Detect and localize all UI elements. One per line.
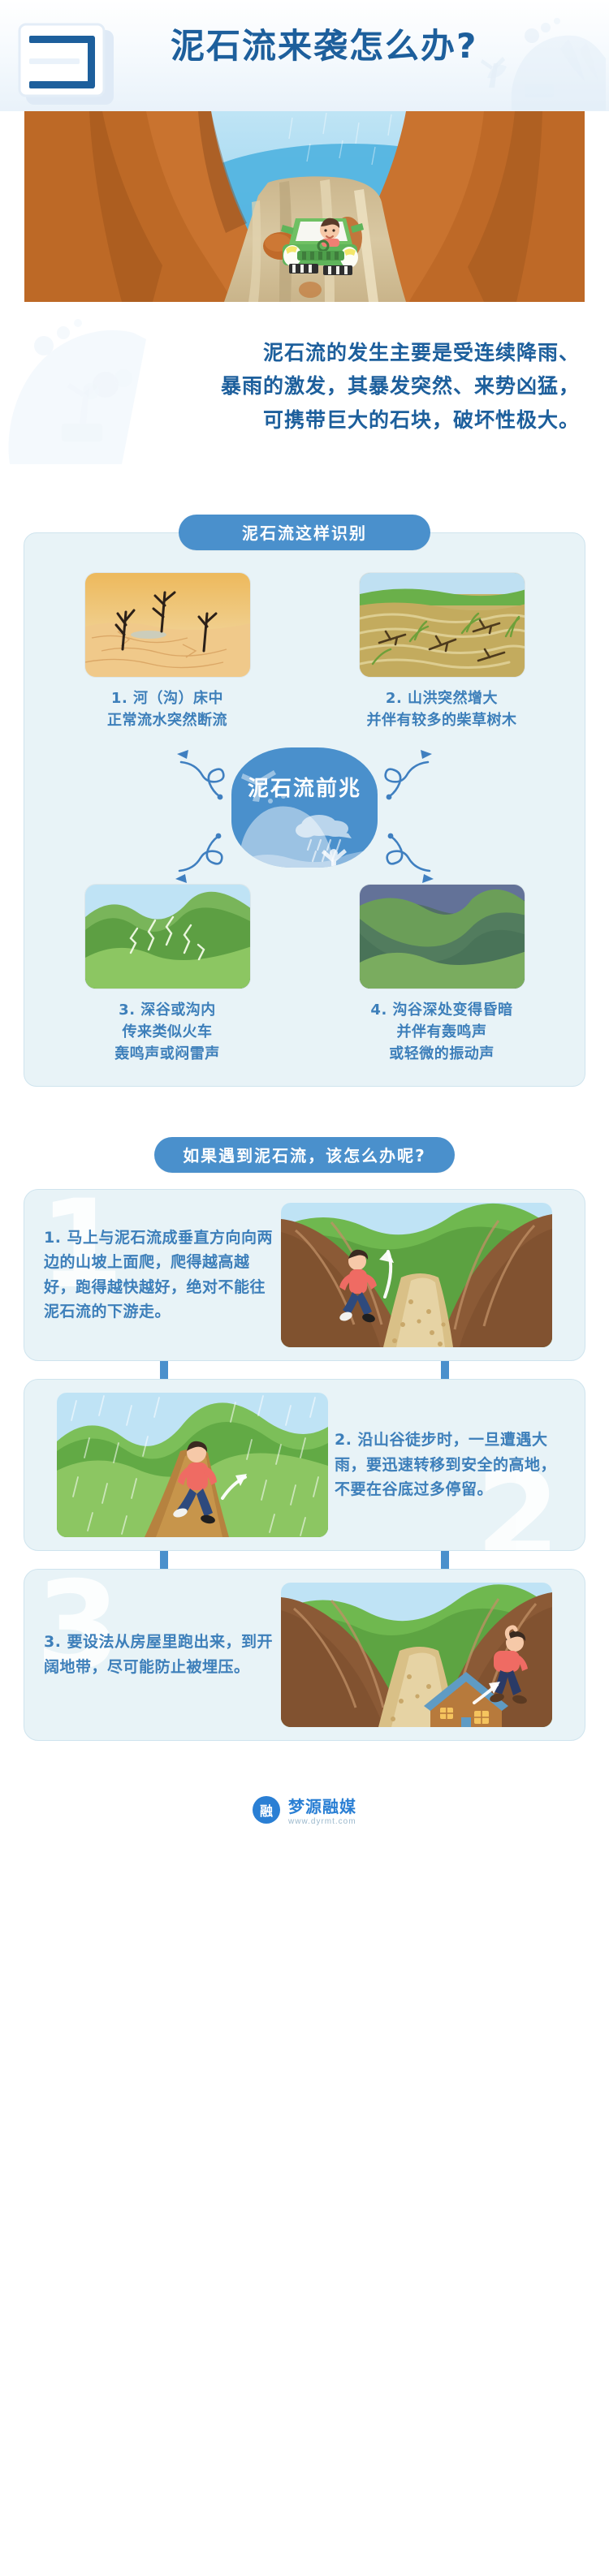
curly-arrow-top-left-icon (141, 743, 231, 801)
identify-section-heading: 泥石流这样识别 (179, 515, 430, 550)
identify-item-2: 2. 山洪突然增大 并伴有较多的柴草树木 (318, 572, 565, 731)
intro-line-1: 泥石流的发生主要是受连续降雨、 (263, 341, 580, 364)
actions-section-heading: 如果遇到泥石流，该怎么办呢? (154, 1137, 455, 1173)
step-2-illustration (57, 1393, 328, 1537)
identify-item-4: 4. 沟谷深处变得昏暗 并伴有轰鸣声 或轻微的振动声 (318, 884, 565, 1065)
step-2-text: 2. 沿山谷徒步时，一旦遭遇大雨，要迅速转移到安全的高地，不要在谷底过多停留。 (328, 1428, 572, 1501)
identify-thumb-flood-debris (359, 572, 525, 678)
action-step-1: 1 1. 马上与泥石流成垂直方向向两边的山坡上面爬，爬得越高越好，跑得越快越好，… (24, 1189, 585, 1361)
intro-paragraph: 泥石流的发生主要是受连续降雨、 暴雨的激发，其暴发突然、来势凶猛， 可携带巨大的… (29, 336, 580, 437)
brand-subtext: www.dyrmt.com (288, 1817, 356, 1826)
intro-section: 泥石流的发生主要是受连续降雨、 暴雨的激发，其暴发突然、来势凶猛， 可携带巨大的… (0, 302, 609, 464)
hero-illustration (24, 111, 585, 302)
step-connector-2-3 (24, 1551, 585, 1569)
identify-caption-2: 2. 山洪突然增大 并伴有较多的柴草树木 (367, 687, 517, 731)
identify-section: 泥石流这样识别 (0, 515, 609, 1087)
curly-arrow-top-right-icon (378, 743, 468, 801)
caption-line: 并伴有轰鸣声 (396, 1023, 486, 1040)
intro-line-3: 可携带巨大的石块，破坏性极大。 (263, 408, 580, 432)
identify-caption-1: 1. 河（沟）床中 正常流水突然断流 (107, 687, 227, 731)
identify-item-1: 1. 河（沟）床中 正常流水突然断流 (44, 572, 291, 731)
hero-canyon-mudflow-svg (24, 111, 585, 302)
brand-logo-icon: 融 (253, 1796, 280, 1824)
caption-line: 2. 山洪突然增大 (386, 690, 498, 707)
caption-line: 正常流水突然断流 (107, 712, 227, 729)
caption-line: 4. 沟谷深处变得昏暗 (370, 1002, 512, 1019)
caption-line: 1. 河（沟）床中 (111, 690, 223, 707)
caption-line: 3. 深谷或沟内 (119, 1002, 216, 1019)
step-1-illustration (281, 1203, 552, 1347)
identify-panel: 1. 河（沟）床中 正常流水突然断流 (24, 532, 585, 1087)
step-1-text: 1. 马上与泥石流成垂直方向向两边的山坡上面爬，爬得越高越好，跑得越快越好，绝对… (37, 1226, 281, 1325)
brand-name: 梦源融媒 (288, 1797, 356, 1816)
spacer (0, 464, 609, 515)
spacer (0, 1087, 609, 1137)
identify-thumb-valley-rumble (84, 884, 251, 989)
step-connector-1-2 (24, 1361, 585, 1379)
caption-line: 并伴有较多的柴草树木 (367, 712, 517, 729)
spacer (0, 1741, 609, 1780)
caption-line: 或轻微的振动声 (389, 1045, 495, 1062)
identify-center-badge: 泥石流前兆 (231, 747, 378, 868)
page-header: 泥石流来袭怎么办? (0, 0, 609, 111)
step-3-text: 3. 要设法从房屋里跑出来，到开阔地带，尽可能防止被埋压。 (37, 1630, 281, 1679)
caption-line: 轰鸣声或闷雷声 (114, 1045, 220, 1062)
identify-thumb-dark-valley (359, 884, 525, 989)
center-badge-label: 泥石流前兆 (231, 772, 378, 802)
action-step-3: 3 3. 要设法从房屋里跑出来，到开阔地带，尽可能防止被埋压。 (24, 1569, 585, 1741)
identify-center-badge-area: 泥石流前兆 (44, 743, 565, 872)
identify-item-3: 3. 深谷或沟内 传来类似火车 轰鸣声或闷雷声 (44, 884, 291, 1065)
section-number-badge (18, 23, 115, 104)
identify-row-bottom: 3. 深谷或沟内 传来类似火车 轰鸣声或闷雷声 (44, 884, 565, 1065)
step-3-illustration (281, 1583, 552, 1727)
number-three-glyph (18, 23, 106, 97)
actions-section: 如果遇到泥石流，该怎么办呢? 1 1. 马上与泥石流成垂直方向向两边的山坡上面爬… (0, 1137, 609, 1741)
identify-row-top: 1. 河（沟）床中 正常流水突然断流 (44, 572, 565, 731)
intro-line-2: 暴雨的激发，其暴发突然、来势凶猛， (221, 374, 580, 398)
caption-line: 传来类似火车 (123, 1023, 213, 1040)
action-step-2: 2 2. 沿山谷徒步时，一旦遭遇大雨，要迅速转移到安全的高地，不要在谷底过多停留… (24, 1379, 585, 1551)
identify-caption-4: 4. 沟谷深处变得昏暗 并伴有轰鸣声 或轻微的振动声 (370, 999, 512, 1065)
page-footer: 融 梦源融媒 www.dyrmt.com (0, 1780, 609, 1840)
identify-thumb-dry-riverbed (84, 572, 251, 678)
curly-arrow-bottom-right-icon (380, 829, 469, 894)
curly-arrow-bottom-left-icon (140, 829, 229, 894)
page-title: 泥石流来袭怎么办? (171, 29, 477, 63)
identify-caption-3: 3. 深谷或沟内 传来类似火车 轰鸣声或闷雷声 (114, 999, 220, 1065)
badge-mudflow-icon (231, 747, 378, 868)
